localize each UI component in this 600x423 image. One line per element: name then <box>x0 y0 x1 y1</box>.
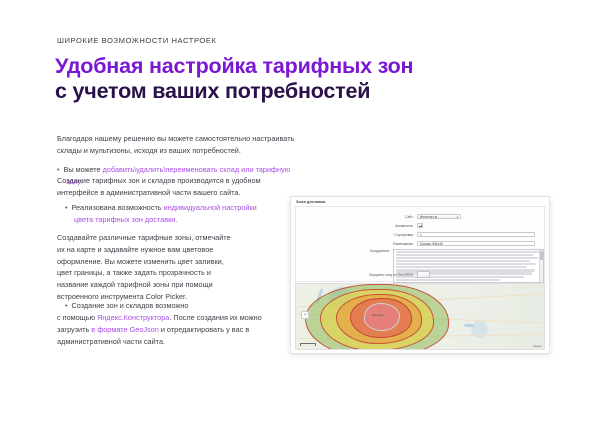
bullet-1-prefix: Вы можете <box>63 165 102 174</box>
label-sort: Сортировка <box>296 233 417 237</box>
copy-block-colors: Реализована возможность индивидуальной н… <box>57 202 267 226</box>
label-geojson-upload: Загрузить зону из GeoJSON <box>296 273 417 277</box>
panel-title: Зона доставки <box>296 199 325 204</box>
paragraph-interface: Создание тарифных зон и складов производ… <box>57 175 297 199</box>
select-site-value: Интернет-м <box>420 215 437 219</box>
headline-line-2: с учетом ваших потребностей <box>55 79 413 104</box>
eyebrow-label: ШИРОКИЕ ВОЗМОЖНОСТИ НАСТРОЕК <box>57 36 216 45</box>
input-sort[interactable]: 1 <box>417 232 535 238</box>
delivery-zone-map[interactable]: Москва + Яндекс Зона 1 Сохранить × Зона … <box>295 283 545 350</box>
bullet-2-prefix: Реализована возможность <box>71 203 163 212</box>
bullet-3-line1: Создание зон и складов возможно <box>71 301 188 310</box>
geojson-part-1: с помощью <box>57 313 97 322</box>
geojson-browse-button[interactable] <box>417 271 430 278</box>
copy-block-geojson: Создание зон и складов возможно с помощь… <box>57 300 279 348</box>
map-zoom-in-icon[interactable]: + <box>301 311 309 319</box>
paragraph-intro: Благодаря нашему решению вы можете самос… <box>57 133 301 157</box>
form-row-sort: Сортировка 1 <box>296 231 544 238</box>
label-active: Активность <box>296 224 417 228</box>
copy-block-colorpicker: Создавайте различные тарифные зоны, отме… <box>57 232 239 303</box>
map-scale-bar <box>300 343 316 346</box>
form-row-placement: Размещение Москва (МКАД) <box>296 240 544 247</box>
copy-block-interface: Создание тарифных зон и складов производ… <box>57 175 297 199</box>
yandex-constructor-link[interactable]: Яндекс.Конструктора <box>97 313 169 322</box>
label-site: Сайт <box>296 215 417 219</box>
bullet-item-2: Реализована возможность индивидуальной н… <box>57 202 267 226</box>
city-label: Москва <box>372 313 383 317</box>
form-row-site: Сайт Интернет-м ▾ <box>296 213 544 220</box>
paragraph-geojson: с помощью Яндекс.Конструктора. После соз… <box>57 312 279 347</box>
chevron-down-icon: ▾ <box>456 215 458 220</box>
geojson-format-link[interactable]: в формате GeoJson <box>91 325 159 334</box>
input-placement[interactable]: Москва (МКАД) <box>417 241 535 247</box>
zone-core[interactable] <box>364 303 400 331</box>
map-attribution: Яндекс <box>533 345 542 348</box>
select-site[interactable]: Интернет-м ▾ <box>417 214 461 220</box>
spacer <box>57 157 301 164</box>
admin-screenshot-panel: Зона доставки Сайт Интернет-м ▾ Активнос… <box>290 196 550 354</box>
bullet-item-3: Создание зон и складов возможно <box>57 300 279 312</box>
headline-line-1: Удобная настройка тарифных зон <box>55 54 413 79</box>
label-placement: Размещение <box>296 242 417 246</box>
geojson-upload-row: Загрузить зону из GeoJSON <box>296 271 544 278</box>
zone-form: Сайт Интернет-м ▾ Активность Сортировка … <box>295 206 545 282</box>
page-title: Удобная настройка тарифных зон с учетом … <box>55 54 413 104</box>
paragraph-colorpicker: Создавайте различные тарифные зоны, отме… <box>57 232 239 303</box>
checkbox-active[interactable] <box>417 223 423 229</box>
label-coords: Координаты <box>296 249 393 253</box>
form-row-active: Активность <box>296 222 544 229</box>
